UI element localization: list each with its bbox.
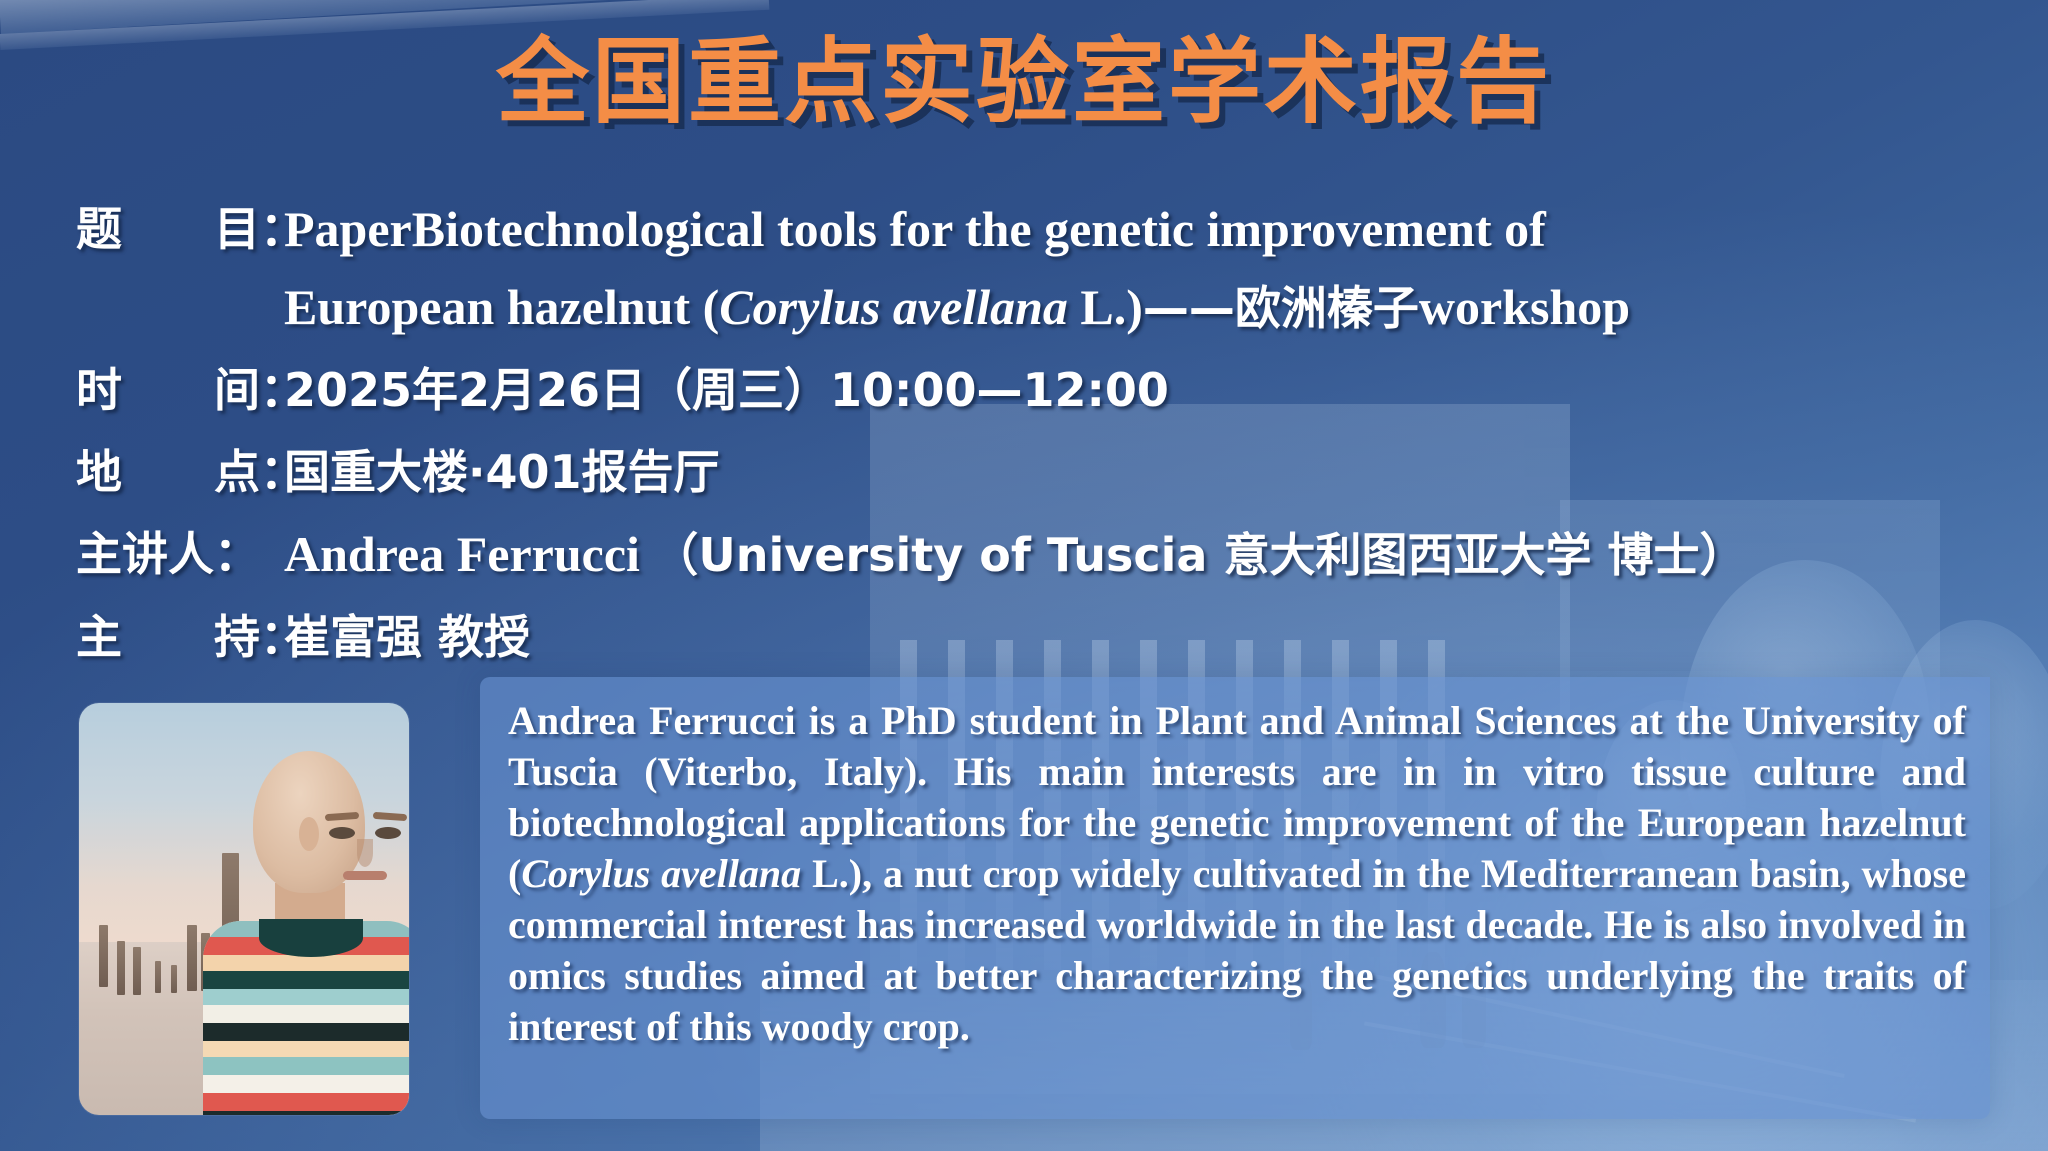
shirt-stripe	[203, 1057, 409, 1075]
topic-post: L.)	[1068, 279, 1143, 335]
photo-eye	[329, 827, 355, 839]
topic-line-2: European hazelnut (Corylus avellana L.)—…	[284, 268, 2036, 347]
info-row-host: 主 持： 崔富强 教授	[76, 598, 2036, 677]
photo-post	[155, 961, 161, 993]
info-label-place: 地 点：	[76, 433, 284, 511]
photo-eyebrow	[373, 812, 407, 821]
photo-ear	[299, 817, 319, 851]
info-row-time: 时 间： 2025年2月26日（周三）10:00—12:00	[76, 351, 2036, 429]
time-text: 2025年2月26日（周三）10:00—12:00	[284, 363, 1169, 417]
shirt-stripe	[203, 971, 409, 989]
photo-post	[171, 965, 177, 993]
photo-eyebrow	[325, 812, 359, 821]
info-value-host: 崔富强 教授	[284, 598, 2036, 677]
shirt-stripe	[203, 1023, 409, 1041]
info-value-time: 2025年2月26日（周三）10:00—12:00	[284, 351, 2036, 429]
photo-mouth	[343, 871, 387, 880]
info-label-time: 时 间：	[76, 351, 284, 429]
topic-zh: ——欧洲榛子	[1143, 281, 1419, 335]
photo-post	[117, 941, 125, 995]
speaker-affiliation-open: （University of Tuscia	[652, 528, 1223, 582]
bio-text: Andrea Ferrucci is a PhD student in Plan…	[508, 695, 1966, 1052]
topic-tail: workshop	[1419, 279, 1630, 335]
shirt-stripe	[203, 1075, 409, 1093]
photo-post	[99, 925, 108, 987]
shirt-stripe	[203, 1111, 409, 1115]
info-row-topic: 题 目： PaperBiotechnological tools for the…	[76, 190, 2036, 347]
photo-post	[187, 925, 197, 991]
info-label-speaker: 主讲人：	[76, 515, 284, 593]
place-text: 国重大楼·401报告厅	[284, 445, 720, 499]
shirt-stripe	[203, 1093, 409, 1111]
info-label-topic: 题 目：	[76, 190, 284, 268]
info-value-speaker: Andrea Ferrucci （University of Tuscia 意大…	[284, 515, 2036, 594]
page-title: 全国重点实验室学术报告	[0, 28, 2048, 138]
topic-line-1: PaperBiotechnological tools for the gene…	[284, 190, 2036, 268]
shirt-stripe	[203, 955, 409, 971]
photo-head	[253, 751, 365, 893]
shirt-stripe	[203, 989, 409, 1005]
photo-nose	[357, 839, 373, 867]
photo-post	[133, 947, 141, 995]
shirt-stripe	[203, 1005, 409, 1023]
shirt-stripe	[203, 1041, 409, 1057]
topic-pre: European hazelnut (	[284, 279, 719, 335]
info-label-host: 主 持：	[76, 598, 284, 676]
bio-panel: Andrea Ferrucci is a PhD student in Plan…	[480, 677, 1990, 1119]
speaker-photo	[79, 703, 409, 1115]
bio-species: Corylus avellana	[521, 851, 801, 896]
shirt-collar	[259, 919, 363, 957]
speaker-name: Andrea Ferrucci	[284, 526, 652, 582]
info-row-speaker: 主讲人： Andrea Ferrucci （University of Tusc…	[76, 515, 2036, 594]
info-value-place: 国重大楼·401报告厅	[284, 433, 2036, 511]
topic-species: Corylus avellana	[719, 279, 1068, 335]
photo-eye	[375, 827, 401, 839]
host-text: 崔富强 教授	[284, 610, 530, 664]
info-block: 题 目： PaperBiotechnological tools for the…	[76, 190, 2036, 681]
info-value-topic: PaperBiotechnological tools for the gene…	[284, 190, 2036, 347]
photo-person	[197, 743, 409, 1115]
info-row-place: 地 点： 国重大楼·401报告厅	[76, 433, 2036, 511]
poster-canvas: 全国重点实验室学术报告 题 目： PaperBiotechnological t…	[0, 0, 2048, 1151]
speaker-affiliation-zh: 意大利图西亚大学 博士）	[1223, 528, 1745, 582]
